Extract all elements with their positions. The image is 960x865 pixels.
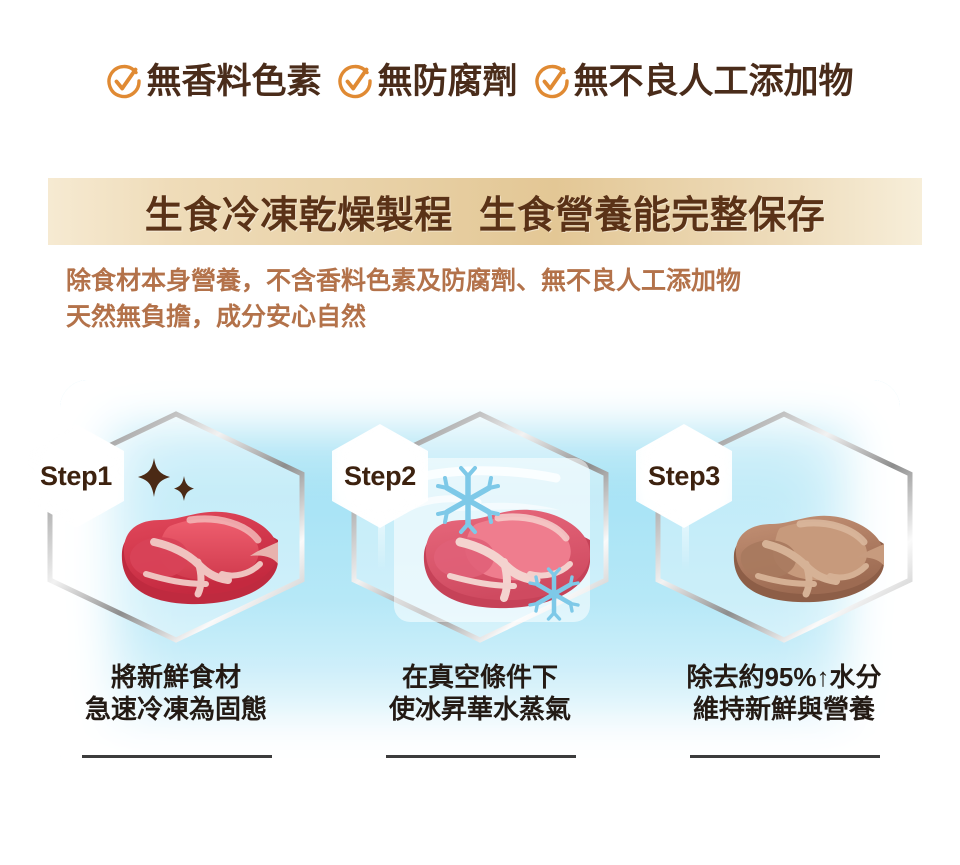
sparkle-icon <box>134 456 204 504</box>
step-caption-line-2: 急速冷凍為固態 <box>32 694 320 726</box>
claim-item: 無防腐劑 <box>337 63 517 99</box>
freeze-dried-meat-icon <box>724 496 896 608</box>
step-badge: Step2 <box>332 424 428 528</box>
steps-row: Step1 將新鮮食材 急速冷凍為固態 <box>0 372 960 792</box>
claim-label: 無防腐劑 <box>377 64 517 99</box>
claims-row: 無香料色素 無防腐劑 無不良人工添加物 <box>0 50 960 112</box>
check-circle-icon <box>337 63 373 99</box>
subcopy-block: 除食材本身營養，不含香料色素及防腐劑、無不良人工添加物 天然無負擔，成分安心自然 <box>66 264 936 335</box>
freeze-dry-process-infographic: 無香料色素 無防腐劑 無不良人工添加物 生食冷凍乾燥製程生食營養能完整保存 <box>0 0 960 865</box>
step-caption-line-1: 將新鮮食材 <box>32 662 320 694</box>
caption-underline <box>82 755 272 758</box>
step-item: Step2 在真空條件下 使冰昇華水蒸氣 <box>336 372 624 792</box>
step-caption-line-1: 在真空條件下 <box>336 662 624 694</box>
step-badge: Step1 <box>28 424 124 528</box>
step-caption-line-1: 除去約95%↑水分 <box>640 662 928 694</box>
raw-meat-icon <box>110 490 290 610</box>
step-caption: 將新鮮食材 急速冷凍為固態 <box>32 662 320 725</box>
step-badge-label: Step1 <box>28 424 124 528</box>
claim-label: 無不良人工添加物 <box>574 64 854 99</box>
process-banner: 生食冷凍乾燥製程生食營養能完整保存 <box>48 178 922 245</box>
steps-panel: Step1 將新鮮食材 急速冷凍為固態 <box>0 372 960 792</box>
step-caption-line-2: 使冰昇華水蒸氣 <box>336 694 624 726</box>
check-circle-icon <box>106 63 142 99</box>
claim-item: 無香料色素 <box>106 63 321 99</box>
caption-underline <box>690 755 880 758</box>
step-badge-label: Step2 <box>332 424 428 528</box>
step-item: Step3 除去約95%↑水分 維持新鮮與營養 <box>640 372 928 792</box>
banner-left-text: 生食冷凍乾燥製程 <box>145 195 453 237</box>
claim-label: 無香料色素 <box>146 64 321 99</box>
check-circle-icon <box>534 63 570 99</box>
banner-text: 生食冷凍乾燥製程生食營養能完整保存 <box>145 184 826 239</box>
step-caption: 在真空條件下 使冰昇華水蒸氣 <box>336 662 624 725</box>
subcopy-line-2: 天然無負擔，成分安心自然 <box>66 300 936 336</box>
caption-underline <box>386 755 576 758</box>
subcopy-line-1: 除食材本身營養，不含香料色素及防腐劑、無不良人工添加物 <box>66 264 936 300</box>
banner-right-text: 生食營養能完整保存 <box>479 195 826 237</box>
step-caption-line-2: 維持新鮮與營養 <box>640 694 928 726</box>
step-badge-label: Step3 <box>636 424 732 528</box>
step-caption: 除去約95%↑水分 維持新鮮與營養 <box>640 662 928 725</box>
step-item: Step1 將新鮮食材 急速冷凍為固態 <box>32 372 320 792</box>
step-badge: Step3 <box>636 424 732 528</box>
claim-item: 無不良人工添加物 <box>534 63 854 99</box>
